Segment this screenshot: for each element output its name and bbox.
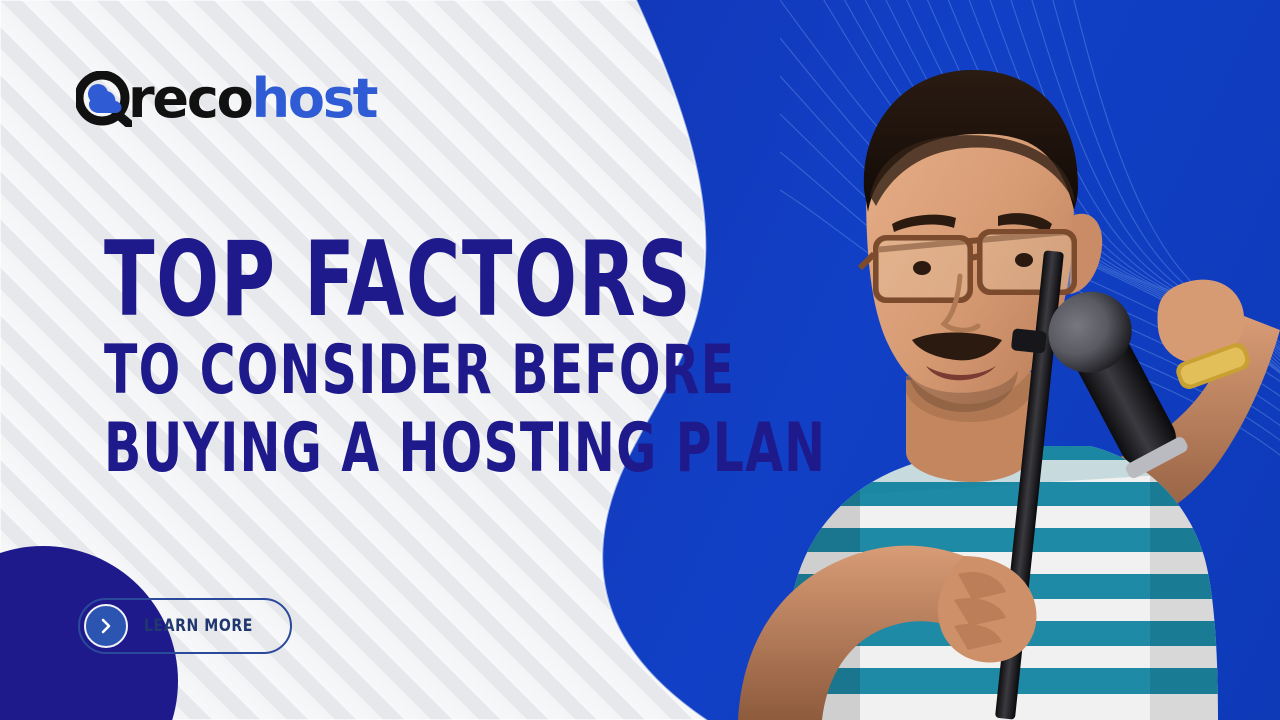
cloud-search-icon: [76, 71, 132, 127]
learn-more-button[interactable]: LEARN MORE: [78, 598, 292, 654]
page-title: TOP FACTORS TO CONSIDER BEFORE BUYING A …: [104, 228, 704, 488]
learn-more-label: LEARN MORE: [144, 616, 253, 636]
brand-name-part1: reco: [128, 67, 252, 130]
brand-name-part2: host: [252, 67, 377, 130]
brand-wordmark: recohost: [128, 72, 376, 126]
headline-line-3: BUYING A HOSTING PLAN: [104, 410, 584, 488]
promo-banner: recohost TOP FACTORS TO CONSIDER BEFORE …: [0, 0, 1280, 720]
chevron-right-icon: [84, 604, 128, 648]
brand-logo[interactable]: recohost: [76, 68, 376, 130]
headline-line-1: TOP FACTORS: [104, 228, 584, 332]
headline-line-2: TO CONSIDER BEFORE: [104, 332, 584, 410]
